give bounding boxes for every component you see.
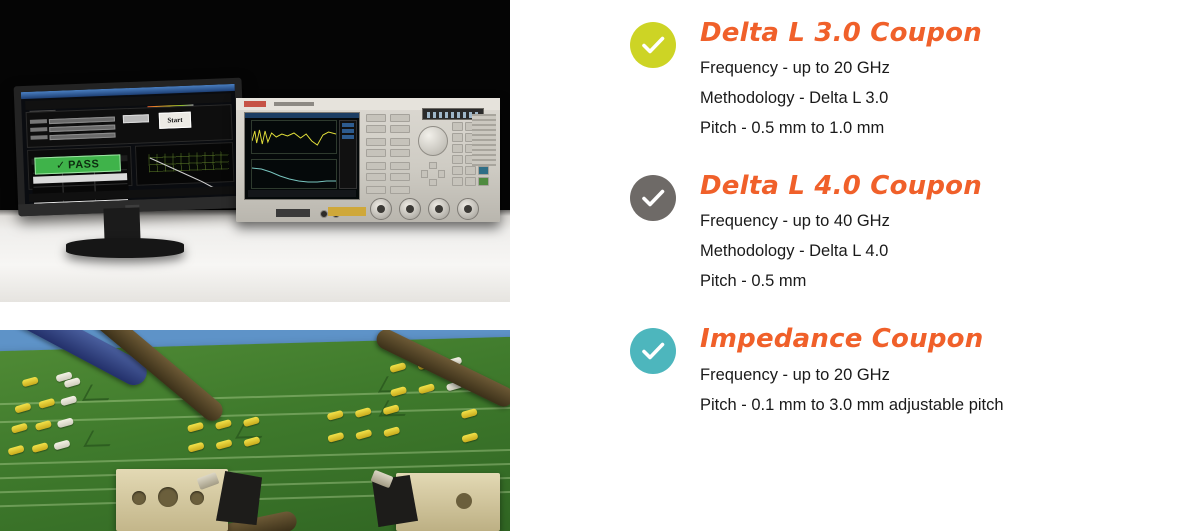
status-segment [445, 112, 448, 118]
setup-input-3[interactable] [49, 133, 115, 141]
instrument-display-titlebar [245, 113, 359, 118]
coupon-spec-frequency: Frequency - up to 40 GHz [700, 206, 1190, 236]
check-circle-icon [630, 22, 676, 68]
keypad-button[interactable] [452, 155, 463, 164]
trace-list-item [342, 129, 354, 133]
softkey-button[interactable] [366, 149, 386, 157]
pcb-pad [7, 445, 24, 456]
test-port-1 [370, 198, 392, 220]
keypad-button[interactable] [452, 177, 463, 186]
dpad-right-button[interactable] [438, 170, 445, 178]
pcb-pad [389, 362, 406, 373]
pcb-pad [327, 432, 344, 443]
check-circle-icon [630, 175, 676, 221]
check-circle-icon [630, 328, 676, 374]
setup-field-label-2 [30, 127, 47, 132]
table-row [33, 183, 127, 188]
pcb-pad [53, 439, 70, 450]
pcb-pad [31, 442, 48, 453]
dpad-down-button[interactable] [429, 179, 437, 186]
test-port-3 [428, 198, 450, 220]
fixture-hole [158, 487, 178, 507]
pcb-pad [215, 439, 232, 450]
softkey-button[interactable] [390, 125, 410, 133]
pcb-pad [215, 419, 232, 430]
slide-root: Start [0, 0, 1200, 531]
coupon-spec-methodology: Methodology - Delta L 4.0 [700, 236, 1190, 266]
coupon-block-impedance: Impedance Coupon Frequency - up to 20 GH… [630, 324, 1190, 420]
coupon-title: Delta L 3.0 Coupon [700, 18, 1190, 49]
status-segment [433, 112, 436, 118]
testing-panel: ✓ PASS [27, 146, 132, 190]
vna-scene-background: Start [0, 0, 510, 302]
monitor-screen: Start [21, 84, 239, 204]
coupon-spec-pitch: Pitch - 0.1 mm to 3.0 mm adjustable pitc… [700, 390, 1020, 420]
vector-network-analyzer [236, 98, 500, 222]
trace-list-item [342, 135, 354, 139]
fixture-hole [456, 493, 472, 509]
keypad-preset-button[interactable] [478, 177, 489, 186]
instrument-display-statusbar [248, 190, 356, 197]
instrument-display [244, 112, 360, 200]
instrument-trace-list [339, 120, 357, 189]
coupon-spec-methodology: Methodology - Delta L 3.0 [700, 83, 1190, 113]
pcb-pad [60, 395, 77, 406]
pcb-fanout-vee [83, 430, 118, 447]
instrument-ventilation-grille [472, 114, 496, 166]
instrument-model-label [274, 102, 314, 106]
test-port-row [370, 198, 480, 220]
s-parameter-plot-lower [251, 159, 337, 189]
navigation-dpad[interactable] [421, 162, 445, 186]
pcb-pad [461, 432, 478, 443]
coupon-spec-frequency: Frequency - up to 20 GHz [700, 53, 1190, 83]
pcb-trace-line [0, 449, 510, 466]
softkey-button[interactable] [366, 173, 386, 181]
pass-status-label: PASS [68, 158, 100, 171]
test-port-2 [399, 198, 421, 220]
pcb-pad [22, 376, 39, 387]
status-segment [427, 112, 430, 118]
instrument-softkey-panel[interactable] [366, 114, 414, 200]
check-icon: ✓ [56, 159, 66, 172]
keypad-button[interactable] [452, 133, 463, 142]
softkey-button[interactable] [390, 114, 410, 122]
status-segment [457, 112, 460, 118]
vna-bench-photo: Start [0, 0, 510, 302]
softkey-button[interactable] [366, 162, 386, 170]
setup-field-label-3 [30, 135, 47, 140]
coupon-title: Impedance Coupon [700, 324, 1190, 355]
softkey-button[interactable] [390, 162, 410, 170]
computer-monitor: Start [14, 78, 247, 217]
pcb-pad [11, 423, 28, 434]
pcb-trace-line [0, 389, 510, 406]
softkey-button[interactable] [390, 149, 410, 157]
start-button[interactable]: Start [159, 112, 192, 129]
keypad-button[interactable] [452, 166, 463, 175]
start-button-label: Start [167, 116, 182, 125]
keypad-button[interactable] [465, 177, 476, 186]
bnc-jack [320, 210, 328, 218]
pcb-pad [187, 442, 204, 453]
monitor-stand-base [66, 238, 184, 258]
usb-port-row [276, 209, 310, 217]
status-segment [463, 112, 466, 118]
results-panel [135, 142, 234, 186]
dpad-left-button[interactable] [421, 170, 428, 178]
coupon-spec-pitch: Pitch - 0.5 mm [700, 266, 1190, 296]
status-segment [439, 112, 442, 118]
setup-input-2[interactable] [49, 125, 115, 133]
setup-panel: Start [26, 104, 233, 148]
keypad-button[interactable] [465, 166, 476, 175]
setup-field-label-1 [30, 119, 47, 124]
pcb-pad [38, 398, 55, 409]
test-port-4 [457, 198, 479, 220]
softkey-button[interactable] [390, 173, 410, 181]
trace-list-item [342, 123, 354, 127]
pcb-fanout-vee [82, 384, 117, 401]
softkey-button[interactable] [366, 186, 386, 194]
setup-input-1[interactable] [49, 117, 115, 125]
softkey-button[interactable] [390, 138, 410, 146]
status-segment [451, 112, 454, 118]
pcb-coupon-photo [0, 330, 510, 531]
keypad-button[interactable] [452, 144, 463, 153]
pcb-pad [355, 407, 372, 418]
pcb-scene-background [0, 330, 510, 531]
fixture-hole [190, 491, 204, 505]
coupon-block-delta-l-3: Delta L 3.0 Coupon Frequency - up to 20 … [630, 18, 1190, 143]
softkey-button[interactable] [390, 186, 410, 194]
pass-status-banner: ✓ PASS [34, 154, 121, 174]
coupon-spec-frequency: Frequency - up to 20 GHz [700, 360, 1190, 390]
coupon-options-list: Delta L 3.0 Coupon Frequency - up to 20 … [630, 18, 1190, 448]
keypad-enter-button[interactable] [478, 166, 489, 175]
pcb-pad [355, 429, 372, 440]
s-parameter-plot-upper [251, 120, 337, 154]
softkey-button[interactable] [366, 125, 386, 133]
browse-button[interactable] [123, 114, 149, 123]
coupon-block-delta-l-4: Delta L 4.0 Coupon Frequency - up to 40 … [630, 171, 1190, 296]
coupon-spec-pitch: Pitch - 0.5 mm to 1.0 mm [700, 113, 1190, 143]
pcb-pad [187, 422, 204, 433]
fixture-hole [132, 491, 146, 505]
keypad-button[interactable] [452, 122, 463, 131]
softkey-button[interactable] [366, 114, 386, 122]
keysight-logo [244, 101, 266, 107]
pcb-pad [383, 426, 400, 437]
table-highlight-row [33, 173, 127, 184]
instrument-warning-label [328, 207, 366, 216]
coupon-title: Delta L 4.0 Coupon [700, 171, 1190, 202]
rotary-knob[interactable] [418, 126, 448, 156]
bench-table-surface [0, 210, 510, 302]
dpad-up-button[interactable] [429, 162, 437, 169]
softkey-button[interactable] [366, 138, 386, 146]
